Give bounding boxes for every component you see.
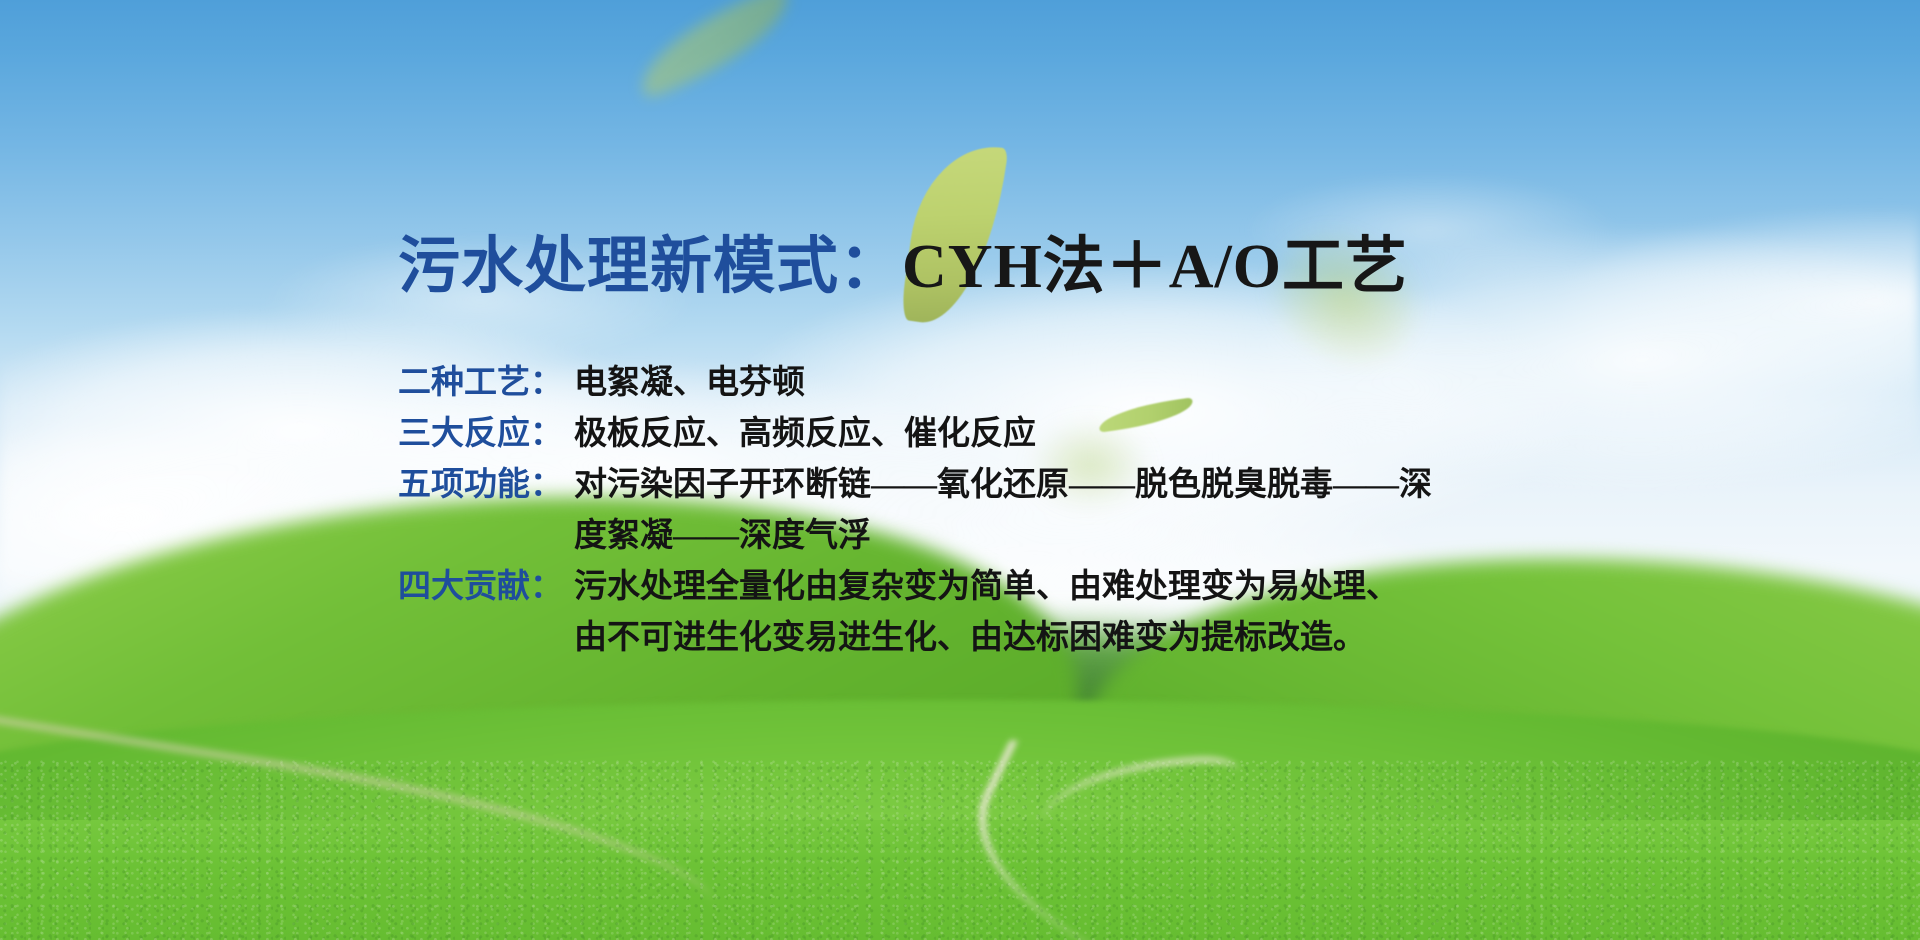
body-row-1: 三大反应：极板反应、高频反应、催化反应 [398,409,1432,460]
row-text-3-cont: 由不可进生化变易进生化、由达标困难变为提标改造。 [574,620,1366,656]
row-text-2: 对污染因子开环断链——氧化还原——脱色脱臭脱毒——深 [574,467,1432,503]
row-label-2: 五项功能： [398,460,574,511]
body-row-0: 二种工艺：电絮凝、电芬顿 [398,358,1432,409]
slide-body: 二种工艺：电絮凝、电芬顿 三大反应：极板反应、高频反应、催化反应 五项功能：对污… [398,358,1432,664]
body-row-3: 四大贡献：污水处理全量化由复杂变为简单、由难处理变为易处理、 [398,562,1432,613]
row-text-3: 污水处理全量化由复杂变为简单、由难处理变为易处理、 [574,569,1399,605]
row-label-0: 二种工艺： [398,358,574,409]
row-label-3: 四大贡献： [398,562,574,613]
slide-content: 污水处理新模式：CYH法＋A/O工艺 二种工艺：电絮凝、电芬顿 三大反应：极板反… [0,0,1920,940]
row-text-1: 极板反应、高频反应、催化反应 [574,416,1036,452]
title-blue-segment: 污水处理新模式： [398,233,902,301]
row-text-2-cont: 度絮凝——深度气浮 [574,518,871,554]
slide-title: 污水处理新模式：CYH法＋A/O工艺 [398,236,1408,298]
row-label-1: 三大反应： [398,409,574,460]
body-row-3-continuation: 由不可进生化变易进生化、由达标困难变为提标改造。 [398,613,1432,664]
body-row-2: 五项功能：对污染因子开环断链——氧化还原——脱色脱臭脱毒——深 [398,460,1432,511]
slide-root: 污水处理新模式：CYH法＋A/O工艺 二种工艺：电絮凝、电芬顿 三大反应：极板反… [0,0,1920,940]
body-row-2-continuation: 度絮凝——深度气浮 [398,511,1432,562]
title-black-segment: CYH法＋A/O工艺 [902,233,1408,301]
row-text-0: 电絮凝、电芬顿 [574,365,805,401]
